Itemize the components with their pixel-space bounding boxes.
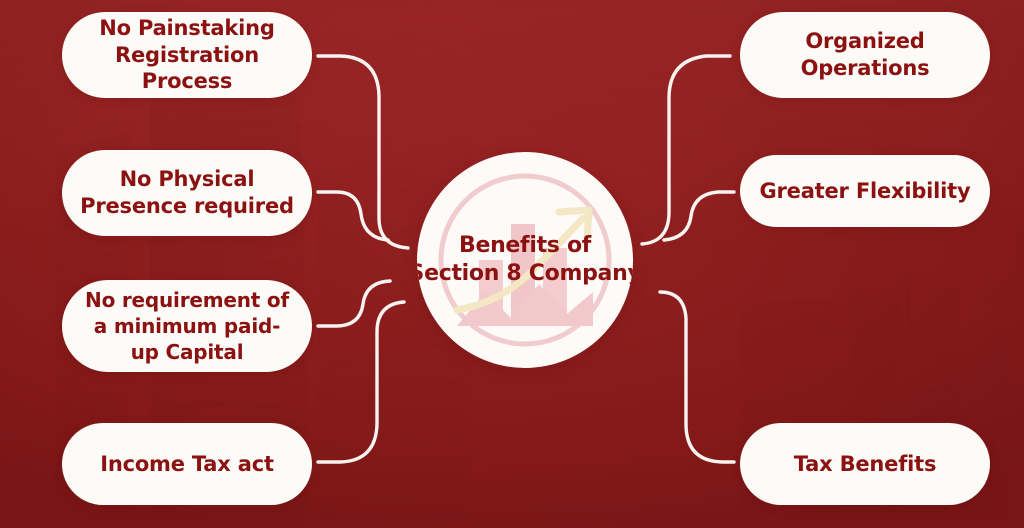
node-greater-flexibility[interactable]: Greater Flexibility [740, 155, 990, 227]
node-label: No Physical Presence required [80, 166, 294, 220]
node-income-tax-act[interactable]: Income Tax act [62, 423, 312, 505]
node-label-line-2: Operations [801, 55, 930, 82]
node-label: No requirement of a minimum paid- up Cap… [85, 287, 289, 365]
hub-title-line-2: Section 8 Company [417, 260, 633, 288]
hub-title-line-1: Benefits of [417, 232, 633, 260]
node-label-line-1: Tax Benefits [794, 451, 937, 478]
node-no-painstaking-registration-process[interactable]: No Painstaking Registration Process [62, 12, 312, 98]
node-label-line-2: Registration Process [80, 42, 294, 96]
node-label-line-1: No Physical [80, 166, 294, 193]
hub-title: Benefits of Section 8 Company [417, 232, 633, 287]
node-no-physical-presence-required[interactable]: No Physical Presence required [62, 150, 312, 236]
node-label-line-2: a minimum paid- [85, 313, 289, 339]
infographic-canvas: Benefits of Section 8 Company No Painsta… [0, 0, 1024, 528]
node-label: Tax Benefits [794, 451, 937, 478]
node-tax-benefits[interactable]: Tax Benefits [740, 423, 990, 505]
node-label: No Painstaking Registration Process [80, 15, 294, 96]
node-label-line-1: Greater Flexibility [759, 178, 970, 205]
node-label-line-1: No requirement of [85, 287, 289, 313]
center-hub: Benefits of Section 8 Company [417, 152, 633, 368]
node-label-line-1: Organized [801, 28, 930, 55]
node-label: Greater Flexibility [759, 178, 970, 205]
node-organized-operations[interactable]: Organized Operations [740, 12, 990, 98]
node-label-line-3: up Capital [85, 339, 289, 365]
node-no-minimum-paid-up-capital[interactable]: No requirement of a minimum paid- up Cap… [62, 280, 312, 372]
node-label: Organized Operations [801, 28, 930, 82]
node-label-line-1: No Painstaking [80, 15, 294, 42]
node-label-line-1: Income Tax act [100, 451, 274, 478]
node-label-line-2: Presence required [80, 193, 294, 220]
node-label: Income Tax act [100, 451, 274, 478]
